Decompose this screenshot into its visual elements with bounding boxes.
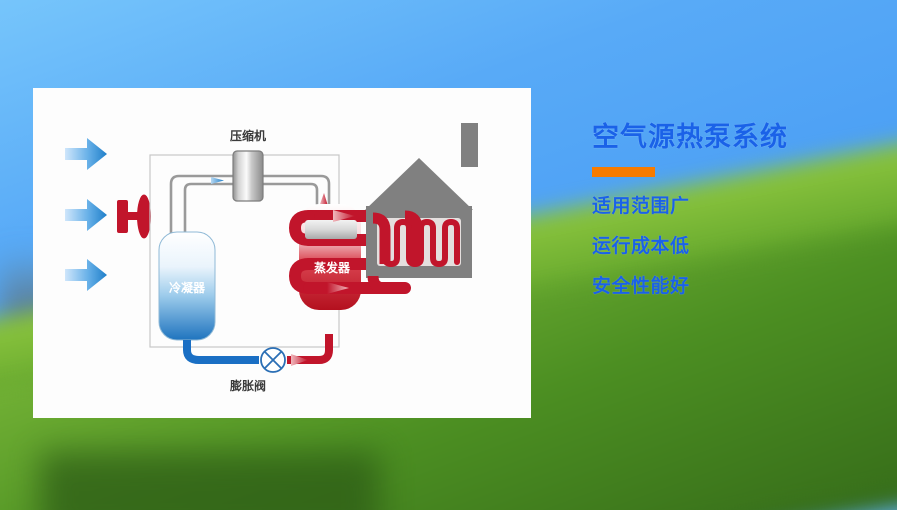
expansion-valve-label: 膨胀阀 <box>229 378 266 393</box>
slide-canvas: 冷凝器 <box>0 0 897 510</box>
feature-item: 适用范围广 <box>592 197 892 216</box>
air-intake-arrows <box>65 138 107 291</box>
background-grass-shadow <box>40 452 380 510</box>
diagram-card: 冷凝器 <box>33 88 531 418</box>
compressor-label: 压缩机 <box>230 128 266 143</box>
liquid-line-hot <box>287 334 329 366</box>
feature-item: 运行成本低 <box>592 237 892 256</box>
compressor: 压缩机 <box>230 128 266 201</box>
condenser: 冷凝器 <box>159 232 215 340</box>
feature-item: 安全性能好 <box>592 277 892 296</box>
text-column: 空气源热泵系统 适用范围广 运行成本低 安全性能好 <box>592 123 892 317</box>
heat-pump-schematic: 冷凝器 <box>33 88 531 418</box>
accent-rule <box>592 167 655 177</box>
liquid-line-cold <box>187 340 259 360</box>
evaporator-label: 蒸发器 <box>314 260 351 275</box>
page-title: 空气源热泵系统 <box>592 123 892 153</box>
condenser-label: 冷凝器 <box>169 280 206 295</box>
expansion-valve <box>261 348 285 372</box>
feature-list: 适用范围广 运行成本低 安全性能好 <box>592 197 892 296</box>
fan-icon <box>117 195 151 239</box>
